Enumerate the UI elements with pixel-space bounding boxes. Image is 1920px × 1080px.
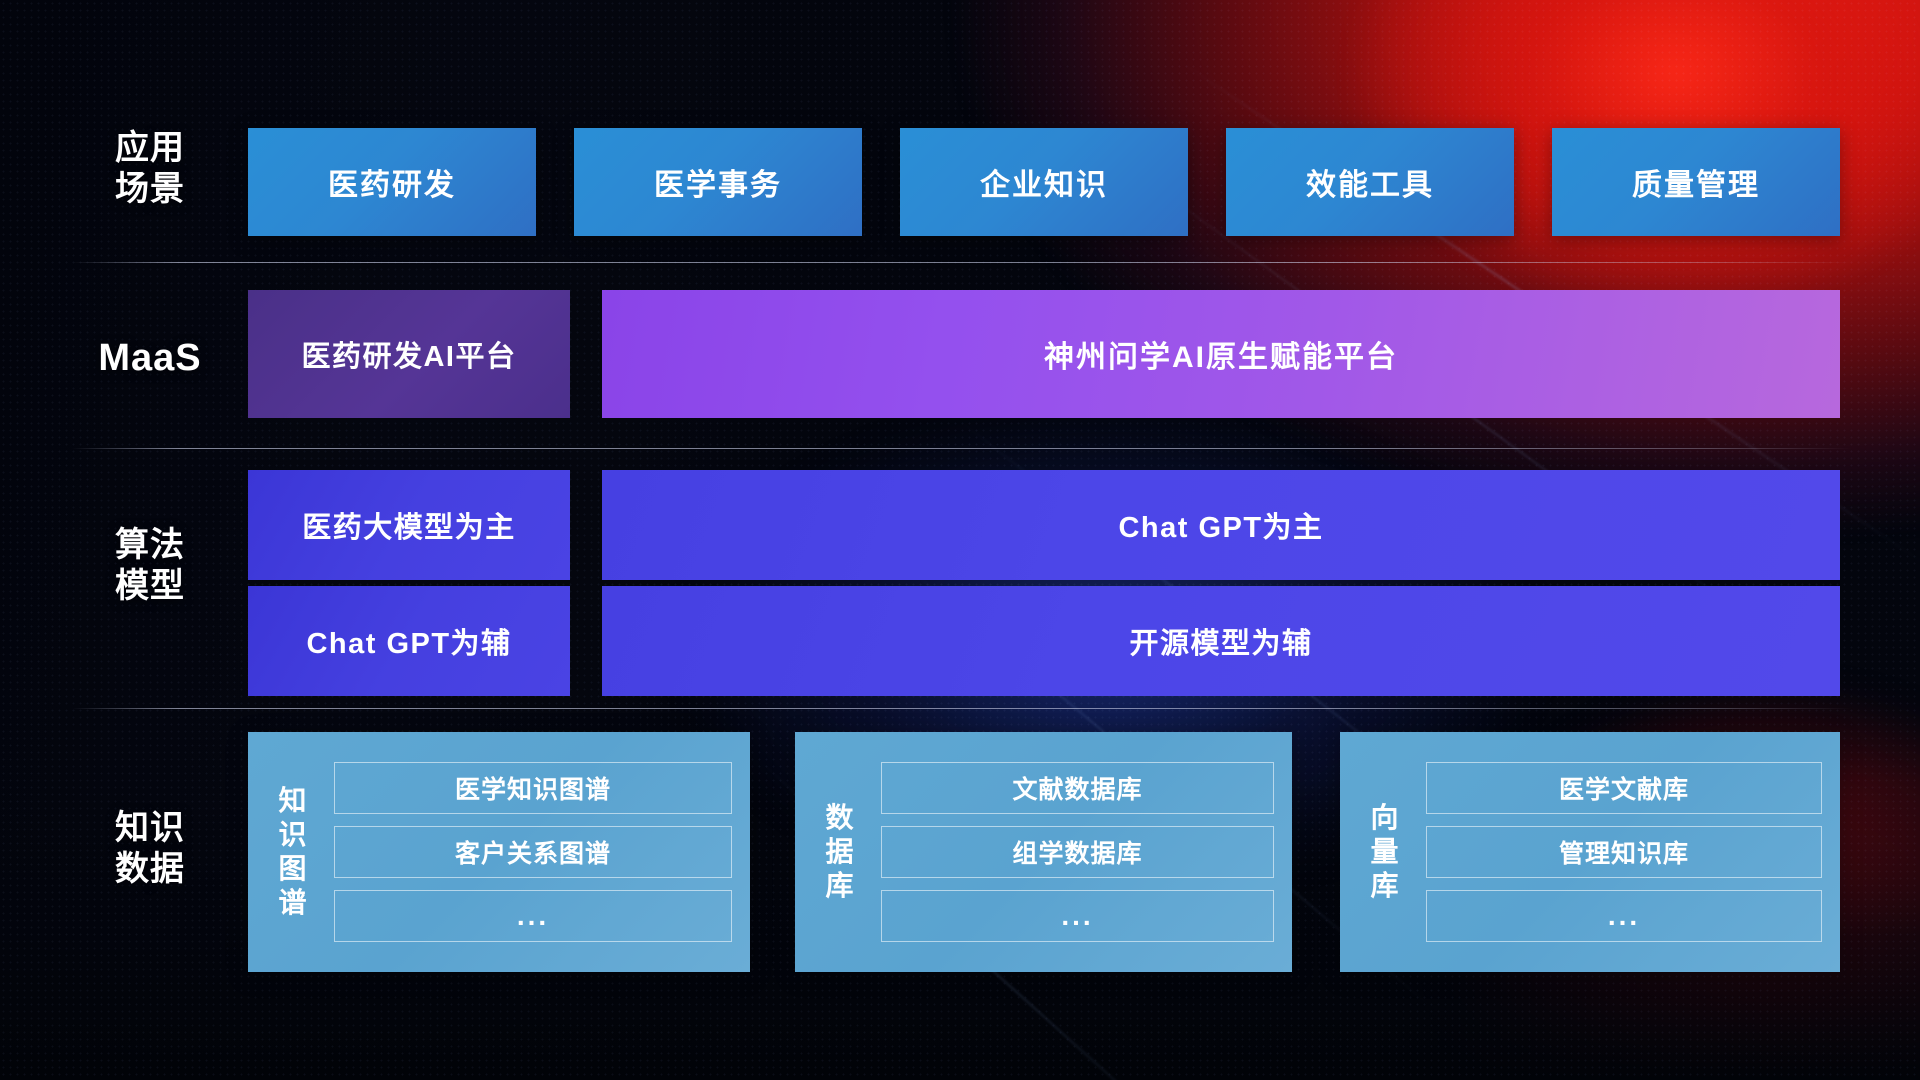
algorithm-card-right-0[interactable]: Chat GPT为主	[602, 470, 1840, 580]
divider-algorithm-knowledge	[72, 708, 1852, 709]
knowledge-item-list: 医学文献库 管理知识库 ...	[1426, 762, 1822, 942]
scenario-card-label: 企业知识	[980, 160, 1108, 204]
algorithm-card-label: Chat GPT为辅	[306, 620, 511, 662]
knowledge-group-title-text: 数 据 库	[825, 801, 854, 903]
knowledge-group-graph[interactable]: 知 识 图 谱 医学知识图谱 客户关系图谱 ...	[248, 732, 750, 972]
scenario-card-label: 效能工具	[1306, 160, 1434, 204]
divider-maas-algorithm	[72, 448, 1852, 449]
row-label-scenario: 应用 场景	[60, 128, 240, 210]
algorithm-card-left-0[interactable]: 医药大模型为主	[248, 470, 570, 580]
knowledge-item[interactable]: 医学知识图谱	[334, 762, 732, 814]
knowledge-item[interactable]: 医学文献库	[1426, 762, 1822, 814]
knowledge-group-title-text: 向 量 库	[1370, 801, 1399, 903]
algorithm-card-label: 医药大模型为主	[302, 504, 516, 546]
knowledge-item-more[interactable]: ...	[334, 890, 732, 942]
row-label-knowledge: 知识 数据	[60, 808, 240, 890]
maas-card-label: 神州问学AI原生赋能平台	[1044, 332, 1398, 376]
scenario-card-4[interactable]: 质量管理	[1552, 128, 1840, 236]
scenario-card-3[interactable]: 效能工具	[1226, 128, 1514, 236]
knowledge-item-list: 文献数据库 组学数据库 ...	[881, 762, 1274, 942]
knowledge-item[interactable]: 管理知识库	[1426, 826, 1822, 878]
row-label-algorithm: 算法 模型	[60, 525, 240, 607]
knowledge-group-vector[interactable]: 向 量 库 医学文献库 管理知识库 ...	[1340, 732, 1840, 972]
knowledge-item[interactable]: 组学数据库	[881, 826, 1274, 878]
scenario-card-label: 质量管理	[1632, 160, 1760, 204]
maas-card-label: 医药研发AI平台	[301, 333, 516, 375]
knowledge-group-title: 数 据 库	[809, 801, 871, 903]
scenario-card-2[interactable]: 企业知识	[900, 128, 1188, 236]
algorithm-card-label: Chat GPT为主	[1118, 504, 1323, 546]
scenario-card-1[interactable]: 医学事务	[574, 128, 862, 236]
knowledge-item-list: 医学知识图谱 客户关系图谱 ...	[334, 762, 732, 942]
scenario-card-label: 医药研发	[328, 160, 456, 204]
knowledge-item-more[interactable]: ...	[1426, 890, 1822, 942]
algorithm-card-right-1[interactable]: 开源模型为辅	[602, 586, 1840, 696]
divider-scenario-maas	[72, 262, 1852, 263]
maas-card-shenzhou-platform[interactable]: 神州问学AI原生赋能平台	[602, 290, 1840, 418]
scenario-card-label: 医学事务	[654, 160, 782, 204]
knowledge-group-title: 知 识 图 谱	[262, 784, 324, 921]
knowledge-item-more[interactable]: ...	[881, 890, 1274, 942]
row-label-maas: MaaS	[60, 336, 240, 382]
scenario-card-0[interactable]: 医药研发	[248, 128, 536, 236]
maas-card-pharma-platform[interactable]: 医药研发AI平台	[248, 290, 570, 418]
algorithm-card-left-1[interactable]: Chat GPT为辅	[248, 586, 570, 696]
knowledge-item[interactable]: 客户关系图谱	[334, 826, 732, 878]
architecture-diagram: 应用 场景 医药研发 医学事务 企业知识 效能工具 质量管理 MaaS 医药研发…	[0, 0, 1920, 1080]
knowledge-item[interactable]: 文献数据库	[881, 762, 1274, 814]
knowledge-group-database[interactable]: 数 据 库 文献数据库 组学数据库 ...	[795, 732, 1292, 972]
algorithm-card-label: 开源模型为辅	[1129, 620, 1312, 662]
knowledge-group-title: 向 量 库	[1354, 801, 1416, 903]
knowledge-group-title-text: 知 识 图 谱	[278, 784, 307, 921]
